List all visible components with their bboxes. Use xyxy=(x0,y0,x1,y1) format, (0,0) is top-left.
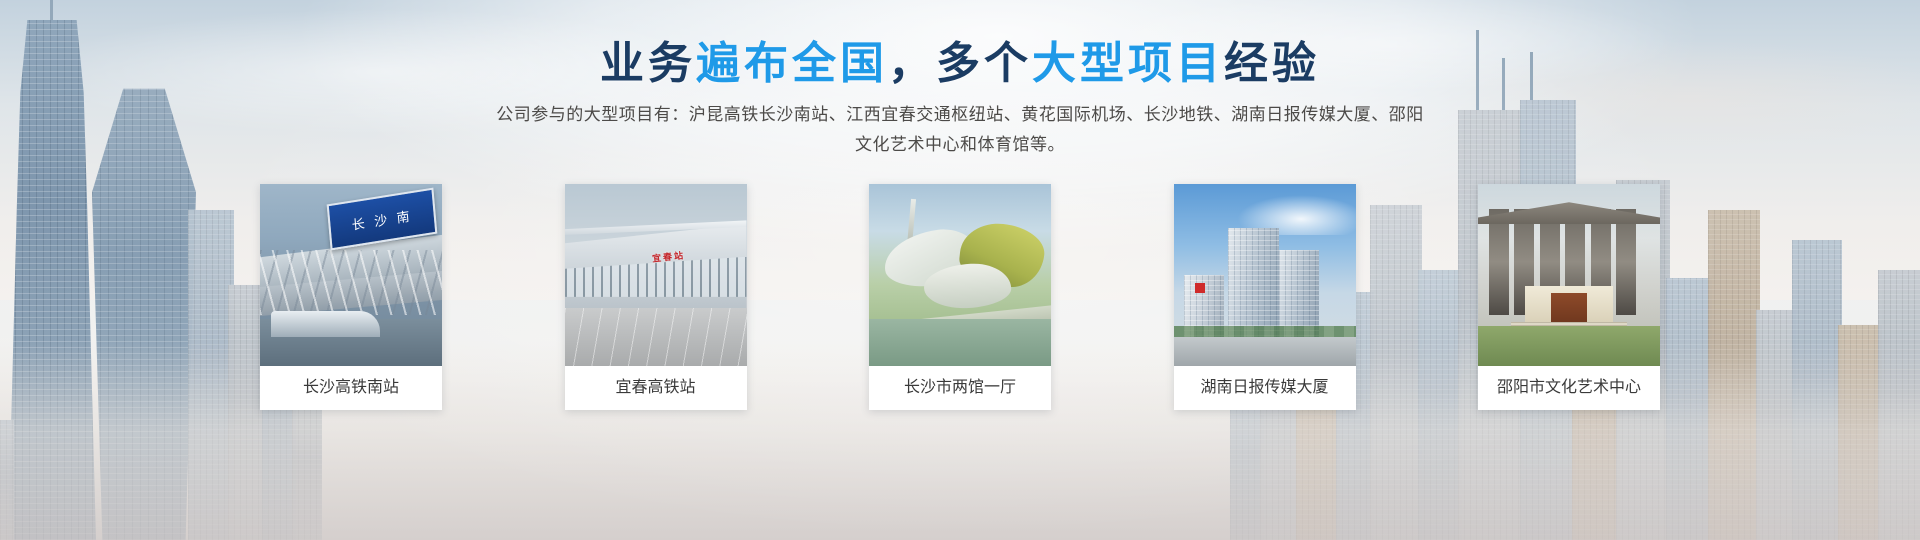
folded-facade-panel xyxy=(1616,209,1636,315)
project-card[interactable]: 长沙市两馆一厅 xyxy=(869,184,1051,410)
headline-segment-5: 经验 xyxy=(1224,38,1320,89)
project-caption: 长沙市两馆一厅 xyxy=(869,366,1051,410)
changsha-two-halls-one-theatre-photo xyxy=(869,184,1051,366)
plaza-paving-lines xyxy=(565,308,747,366)
headline-segment-4: 大型项目 xyxy=(1032,38,1224,89)
antenna-spire xyxy=(50,0,53,22)
train xyxy=(271,311,380,336)
headline-segment-3: ，多个 xyxy=(888,38,1032,89)
project-card[interactable]: 邵阳市文化艺术中心 xyxy=(1478,184,1660,410)
landscape-water xyxy=(869,319,1051,366)
folded-facade-panel xyxy=(1489,209,1509,315)
entrance-door xyxy=(1551,293,1587,326)
changsha-south-railway-station-photo: 长 沙 南 xyxy=(260,184,442,366)
station-sign-text: 长 沙 南 xyxy=(351,205,413,234)
shaoyang-culture-and-arts-centre-photo xyxy=(1478,184,1660,366)
banner-subtitle: 公司参与的大型项目有：沪昆高铁长沙南站、江西宜春交通枢纽站、黄花国际机场、长沙地… xyxy=(495,100,1425,160)
red-logo-mark xyxy=(1195,283,1205,293)
office-tower-main xyxy=(1228,228,1279,341)
project-card[interactable]: 宜春站 宜春高铁站 xyxy=(565,184,747,410)
project-caption: 邵阳市文化艺术中心 xyxy=(1478,366,1660,410)
steel-truss-texture xyxy=(260,250,442,316)
facade-sign-text: 宜春站 xyxy=(651,248,685,264)
page-title: 业务遍布全国，多个大型项目经验 xyxy=(0,36,1920,91)
front-lawn xyxy=(1478,326,1660,366)
project-card[interactable]: 湖南日报传媒大厦 xyxy=(1174,184,1356,410)
project-showcase-banner: 业务遍布全国，多个大型项目经验 公司参与的大型项目有：沪昆高铁长沙南站、江西宜春… xyxy=(0,0,1920,540)
forecourt xyxy=(1174,337,1356,366)
project-card-row: 长 沙 南 长沙高铁南站 宜春站 宜春高铁站 xyxy=(260,184,1660,410)
project-caption: 宜春高铁站 xyxy=(565,366,747,410)
folded-roof xyxy=(1478,202,1660,224)
project-caption: 湖南日报传媒大厦 xyxy=(1174,366,1356,410)
project-caption: 长沙高铁南站 xyxy=(260,366,442,410)
project-card[interactable]: 长 沙 南 长沙高铁南站 xyxy=(260,184,442,410)
headline-segment-1: 业务 xyxy=(600,38,696,89)
hunan-daily-media-building-photo xyxy=(1174,184,1356,366)
yichun-high-speed-rail-station-photo: 宜春站 xyxy=(565,184,747,366)
headline-segment-2: 遍布全国 xyxy=(696,38,888,89)
